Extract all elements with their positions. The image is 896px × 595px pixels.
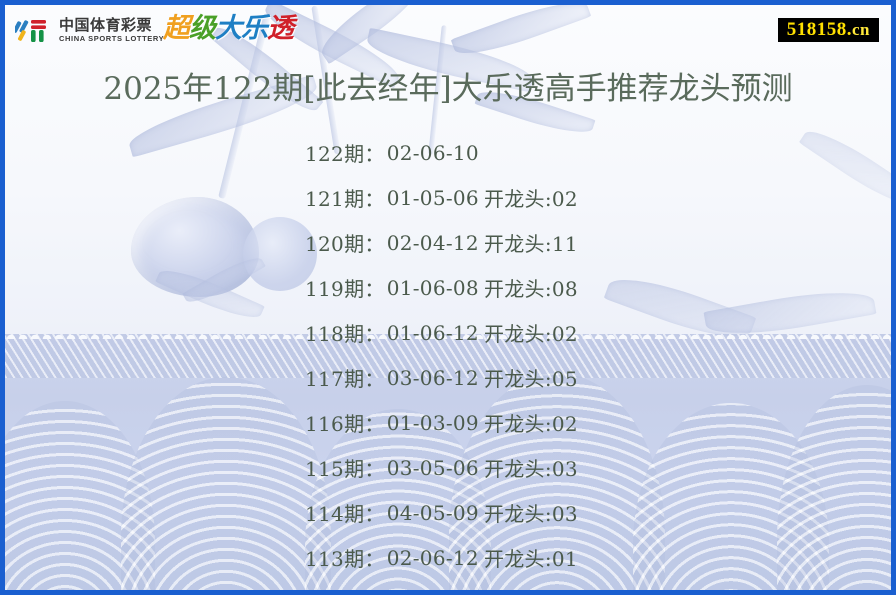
draw-result: 开龙头:03: [484, 453, 578, 482]
issue-label: 114期：: [305, 498, 385, 527]
issue-label: 117期：: [305, 363, 385, 392]
list-item: 122期： 02-06-10: [5, 130, 891, 175]
frame-border-right: [891, 0, 896, 595]
predicted-numbers: 01-06-12: [387, 321, 479, 345]
predicted-numbers: 03-05-06: [387, 456, 479, 480]
predicted-numbers: 01-05-06: [387, 186, 479, 210]
issue-label: 122期：: [305, 138, 385, 167]
predicted-numbers: 02-06-12: [387, 546, 479, 570]
draw-result: 开龙头:01: [484, 543, 578, 572]
site-header: 中国体育彩票 CHINA SPORTS LOTTERY 超级大乐透 518158…: [5, 5, 891, 53]
prediction-list: 122期： 02-06-10 121期： 01-05-06 开龙头:02 120…: [5, 130, 891, 580]
list-item: 121期： 01-05-06 开龙头:02: [5, 175, 891, 220]
brand-char-1: 级: [189, 13, 215, 44]
draw-result: 开龙头:02: [484, 318, 578, 347]
issue-label: 119期：: [305, 273, 385, 302]
draw-result: 开龙头:02: [484, 408, 578, 437]
predicted-numbers: 02-04-12: [387, 231, 479, 255]
brand-char-0: 超: [163, 13, 189, 44]
logo-english-name: CHINA SPORTS LOTTERY: [59, 34, 164, 43]
list-item: 116期： 01-03-09 开龙头:02: [5, 400, 891, 445]
page-title: 2025年122期[此去经年]大乐透高手推荐龙头预测: [5, 63, 891, 108]
logo-wordmark: 中国体育彩票 CHINA SPORTS LOTTERY: [59, 17, 164, 43]
issue-label: 115期：: [305, 453, 385, 482]
draw-result: 开龙头:08: [484, 273, 578, 302]
brand-char-4: 透: [267, 13, 293, 44]
predicted-numbers: 04-05-09: [387, 501, 479, 525]
issue-label: 121期：: [305, 183, 385, 212]
predicted-numbers: 01-03-09: [387, 411, 479, 435]
watermark-badge: 518158.cn: [778, 18, 879, 42]
watermark-number: 518158.: [787, 19, 852, 40]
draw-result: 开龙头:05: [484, 363, 578, 392]
predicted-numbers: 03-06-12: [387, 366, 479, 390]
watermark-tld: cn: [852, 20, 870, 39]
list-item: 117期： 03-06-12 开龙头:05: [5, 355, 891, 400]
lottery-logo[interactable]: 中国体育彩票 CHINA SPORTS LOTTERY: [15, 15, 164, 45]
list-item: 120期： 02-04-12 开龙头:11: [5, 220, 891, 265]
page-frame: 中国体育彩票 CHINA SPORTS LOTTERY 超级大乐透 518158…: [0, 0, 896, 595]
issue-label: 116期：: [305, 408, 385, 437]
logo-chinese-name: 中国体育彩票: [59, 17, 164, 33]
issue-label: 120期：: [305, 228, 385, 257]
brand-title-dlt: 超级大乐透: [163, 14, 293, 44]
draw-result: 开龙头:03: [484, 498, 578, 527]
predicted-numbers: 01-06-08: [387, 276, 479, 300]
list-item: 119期： 01-06-08 开龙头:08: [5, 265, 891, 310]
list-item: 113期： 02-06-12 开龙头:01: [5, 535, 891, 580]
frame-border-bottom: [0, 590, 896, 595]
brand-char-3: 乐: [241, 13, 267, 44]
draw-result: 开龙头:11: [484, 228, 578, 257]
list-item: 114期： 04-05-09 开龙头:03: [5, 490, 891, 535]
china-sports-lottery-mark-icon: [15, 17, 53, 43]
brand-char-2: 大: [215, 13, 241, 44]
page-canvas: 中国体育彩票 CHINA SPORTS LOTTERY 超级大乐透 518158…: [5, 5, 891, 590]
draw-result: 开龙头:02: [484, 183, 578, 212]
list-item: 118期： 01-06-12 开龙头:02: [5, 310, 891, 355]
issue-label: 113期：: [305, 543, 385, 572]
issue-label: 118期：: [305, 318, 385, 347]
predicted-numbers: 02-06-10: [387, 141, 479, 165]
list-item: 115期： 03-05-06 开龙头:03: [5, 445, 891, 490]
